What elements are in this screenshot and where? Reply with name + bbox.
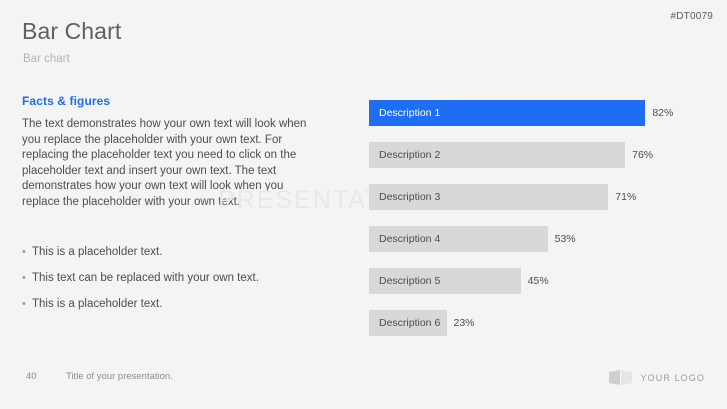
bar-chart: Description 182%Description 276%Descript… <box>369 100 709 350</box>
page-number: 40 <box>26 371 37 382</box>
logo-mark-icon <box>608 368 634 387</box>
bar-category-label: Description 1 <box>369 107 440 119</box>
bar-category-label: Description 2 <box>369 149 440 161</box>
document-id: #DT0079 <box>670 11 713 22</box>
bullet-list: • This is a placeholder text. • This tex… <box>22 244 332 322</box>
bullet-icon: • <box>22 296 32 312</box>
bar[interactable]: Description 6 <box>369 310 447 336</box>
footer-title: Title of your presentation. <box>66 371 173 382</box>
bar[interactable]: Description 1 <box>369 100 645 126</box>
bar-value-label: 23% <box>454 317 475 329</box>
list-item: • This is a placeholder text. <box>22 296 332 312</box>
list-item-label: This text can be replaced with your own … <box>32 270 259 286</box>
bar[interactable]: Description 4 <box>369 226 548 252</box>
bar[interactable]: Description 2 <box>369 142 625 168</box>
bar-category-label: Description 3 <box>369 191 440 203</box>
bar-value-label: 45% <box>528 275 549 287</box>
bar-value-label: 76% <box>632 149 653 161</box>
list-item: • This text can be replaced with your ow… <box>22 270 332 286</box>
logo-text: YOUR LOGO <box>641 373 705 383</box>
slide: PRESENTATIONLOAD #DT0079 Bar Chart Bar c… <box>0 0 727 409</box>
bar[interactable]: Description 5 <box>369 268 521 294</box>
page-subtitle: Bar chart <box>23 53 70 65</box>
bullet-icon: • <box>22 244 32 260</box>
bar-value-label: 82% <box>652 107 673 119</box>
bar-chart-row: Description 371% <box>369 184 636 210</box>
list-item-label: This is a placeholder text. <box>32 296 162 312</box>
bullet-icon: • <box>22 270 32 286</box>
logo: YOUR LOGO <box>608 368 705 387</box>
bar-category-label: Description 4 <box>369 233 440 245</box>
bar-category-label: Description 6 <box>369 317 440 329</box>
bar-chart-row: Description 453% <box>369 226 576 252</box>
bar-chart-row: Description 182% <box>369 100 673 126</box>
bar-value-label: 53% <box>555 233 576 245</box>
list-item: • This is a placeholder text. <box>22 244 332 260</box>
bar-value-label: 71% <box>615 191 636 203</box>
bar-chart-row: Description 623% <box>369 310 475 336</box>
bar-chart-row: Description 276% <box>369 142 653 168</box>
bar-chart-row: Description 545% <box>369 268 549 294</box>
bar-category-label: Description 5 <box>369 275 440 287</box>
facts-and-figures-heading: Facts & figures <box>22 94 110 108</box>
bar[interactable]: Description 3 <box>369 184 608 210</box>
list-item-label: This is a placeholder text. <box>32 244 162 260</box>
page-title: Bar Chart <box>22 18 121 45</box>
